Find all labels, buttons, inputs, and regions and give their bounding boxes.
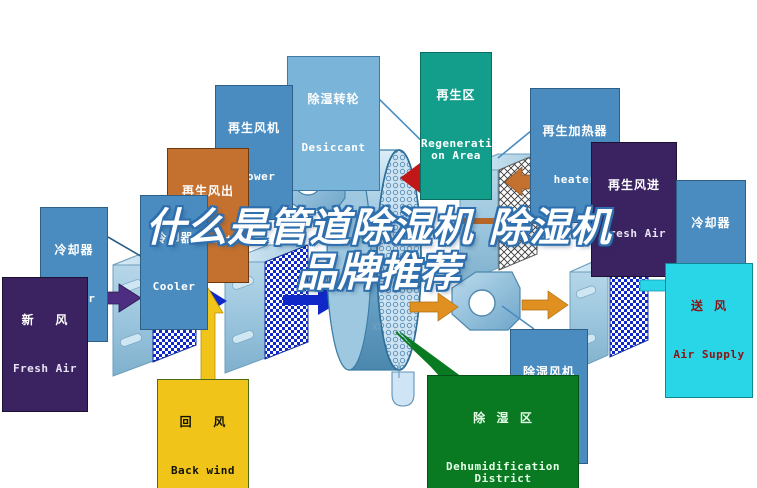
label-air-supply-cn: 送 风 <box>666 300 752 313</box>
label-dehumidification-district: 除 湿 区 Dehumidification District <box>427 375 579 488</box>
label-regeneration-area: 再生区 Regenerati on Area <box>420 52 492 200</box>
label-regeneration-fresh-air-in-en: Fresh Air <box>592 228 676 240</box>
svg-text:XT: XT <box>372 323 383 333</box>
diagram-canvas: XT <box>0 0 757 488</box>
label-regeneration-fresh-air-in: 再生风进 Fresh Air <box>591 142 677 277</box>
label-desiccant-wheel-en: Desiccant <box>288 142 379 154</box>
label-desiccant-wheel: 除湿转轮 Desiccant <box>287 56 380 191</box>
label-back-wind-en: Back wind <box>158 465 248 477</box>
label-dehumidification-district-cn: 除 湿 区 <box>428 412 578 425</box>
label-regeneration-area-cn: 再生区 <box>421 89 491 102</box>
label-cooler-left-second: 冷却器 Cooler <box>140 195 208 330</box>
flow-blower-to-cooler <box>522 291 568 319</box>
label-air-supply: 送 风 Air Supply <box>665 263 753 398</box>
label-dehumidification-district-en: Dehumidification District <box>428 461 578 486</box>
label-air-supply-en: Air Supply <box>666 349 752 361</box>
label-fresh-air-in-left-en: Fresh Air <box>3 363 87 375</box>
label-back-wind: 回 风 Back wind <box>157 379 249 488</box>
label-regeneration-heater-cn: 再生加热器 <box>531 125 619 138</box>
label-desiccant-wheel-cn: 除湿转轮 <box>288 93 379 106</box>
label-cooler-right-cn: 冷却器 <box>677 217 745 230</box>
process-blower-housing <box>452 272 520 330</box>
label-fresh-air-in-left-cn: 新 风 <box>3 314 87 327</box>
label-cooler-left-second-cn: 冷却器 <box>141 232 207 245</box>
label-cooler-far-left-cn: 冷却器 <box>41 244 107 257</box>
label-regeneration-area-en: Regenerati on Area <box>421 138 491 163</box>
label-fresh-air-in-left: 新 风 Fresh Air <box>2 277 88 412</box>
label-cooler-left-second-en: Cooler <box>141 281 207 293</box>
label-back-wind-cn: 回 风 <box>158 416 248 429</box>
label-regeneration-blower-cn: 再生风机 <box>216 122 292 135</box>
label-regeneration-fresh-air-in-cn: 再生风进 <box>592 179 676 192</box>
